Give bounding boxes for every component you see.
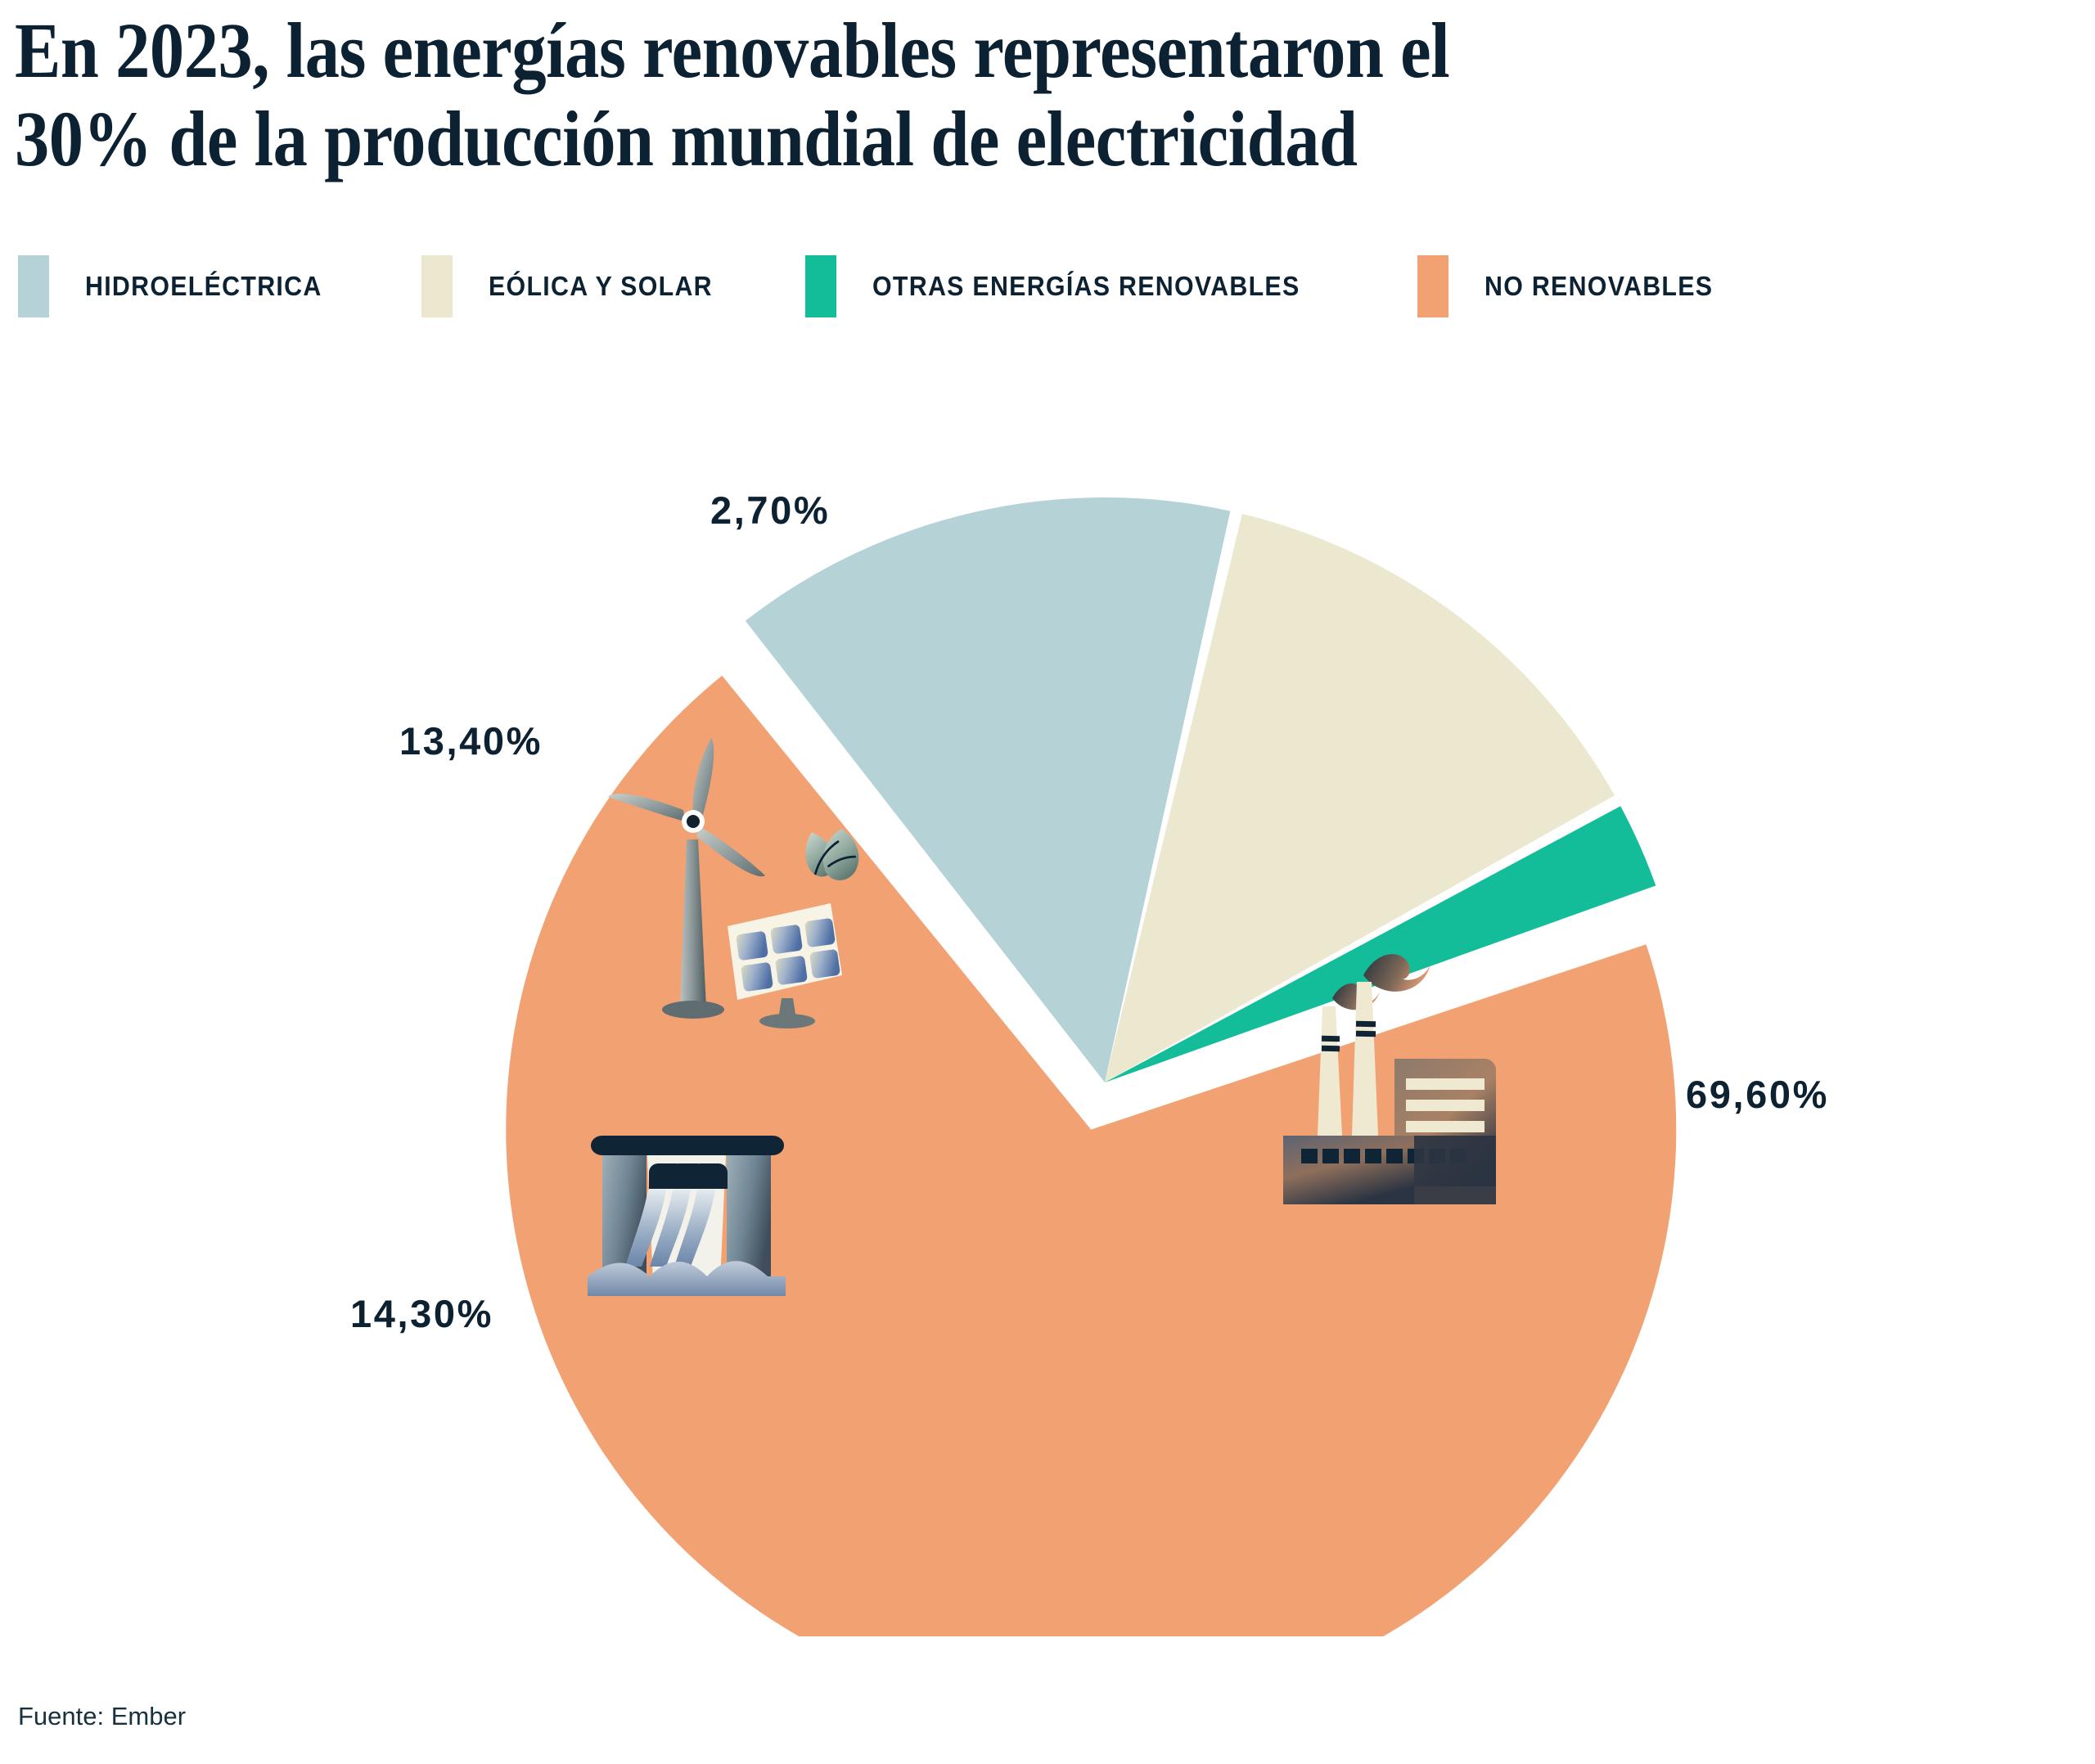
legend-swatch-hydro-icon xyxy=(18,255,49,317)
hydro-dam-icon xyxy=(588,1136,786,1296)
legend-swatch-other-renewables-icon xyxy=(805,255,836,317)
legend-swatch-wind-solar-icon xyxy=(421,255,453,317)
slice-value-no-renovables: 69,60% xyxy=(1686,1072,1829,1117)
slice-value-otras-renovables: 2,70% xyxy=(710,488,830,533)
legend-item-otras-energias-renovables[interactable]: OTRAS ENERGÍAS RENOVABLES xyxy=(805,255,1337,317)
legend-swatch-non-renewables-icon xyxy=(1417,255,1448,317)
pie-chart xyxy=(0,352,2095,1636)
page-title: En 2023, las energías renovables represe… xyxy=(15,7,1779,182)
slice-value-hidroelectrica: 14,30% xyxy=(350,1291,493,1336)
pie-real-slices xyxy=(506,497,1676,1636)
slice-value-eolica-solar: 13,40% xyxy=(399,718,543,763)
pie-chart-svg xyxy=(0,352,2095,1636)
legend-item-label: NO RENOVABLES xyxy=(1485,271,1713,302)
legend: HIDROELÉCTRICA EÓLICA Y SOLAR OTRAS ENER… xyxy=(18,255,2072,317)
legend-item-label: EÓLICA Y SOLAR xyxy=(489,271,713,302)
legend-item-no-renovables[interactable]: NO RENOVABLES xyxy=(1417,255,1733,317)
source-note: Fuente: Ember xyxy=(18,1702,186,1731)
legend-item-label: HIDROELÉCTRICA xyxy=(85,271,322,302)
title-block: En 2023, las energías renovables represe… xyxy=(15,7,2020,182)
legend-item-label: OTRAS ENERGÍAS RENOVABLES xyxy=(872,271,1300,302)
legend-item-eolica-y-solar[interactable]: EÓLICA Y SOLAR xyxy=(421,255,732,317)
legend-item-hidroelectrica[interactable]: HIDROELÉCTRICA xyxy=(18,255,343,317)
